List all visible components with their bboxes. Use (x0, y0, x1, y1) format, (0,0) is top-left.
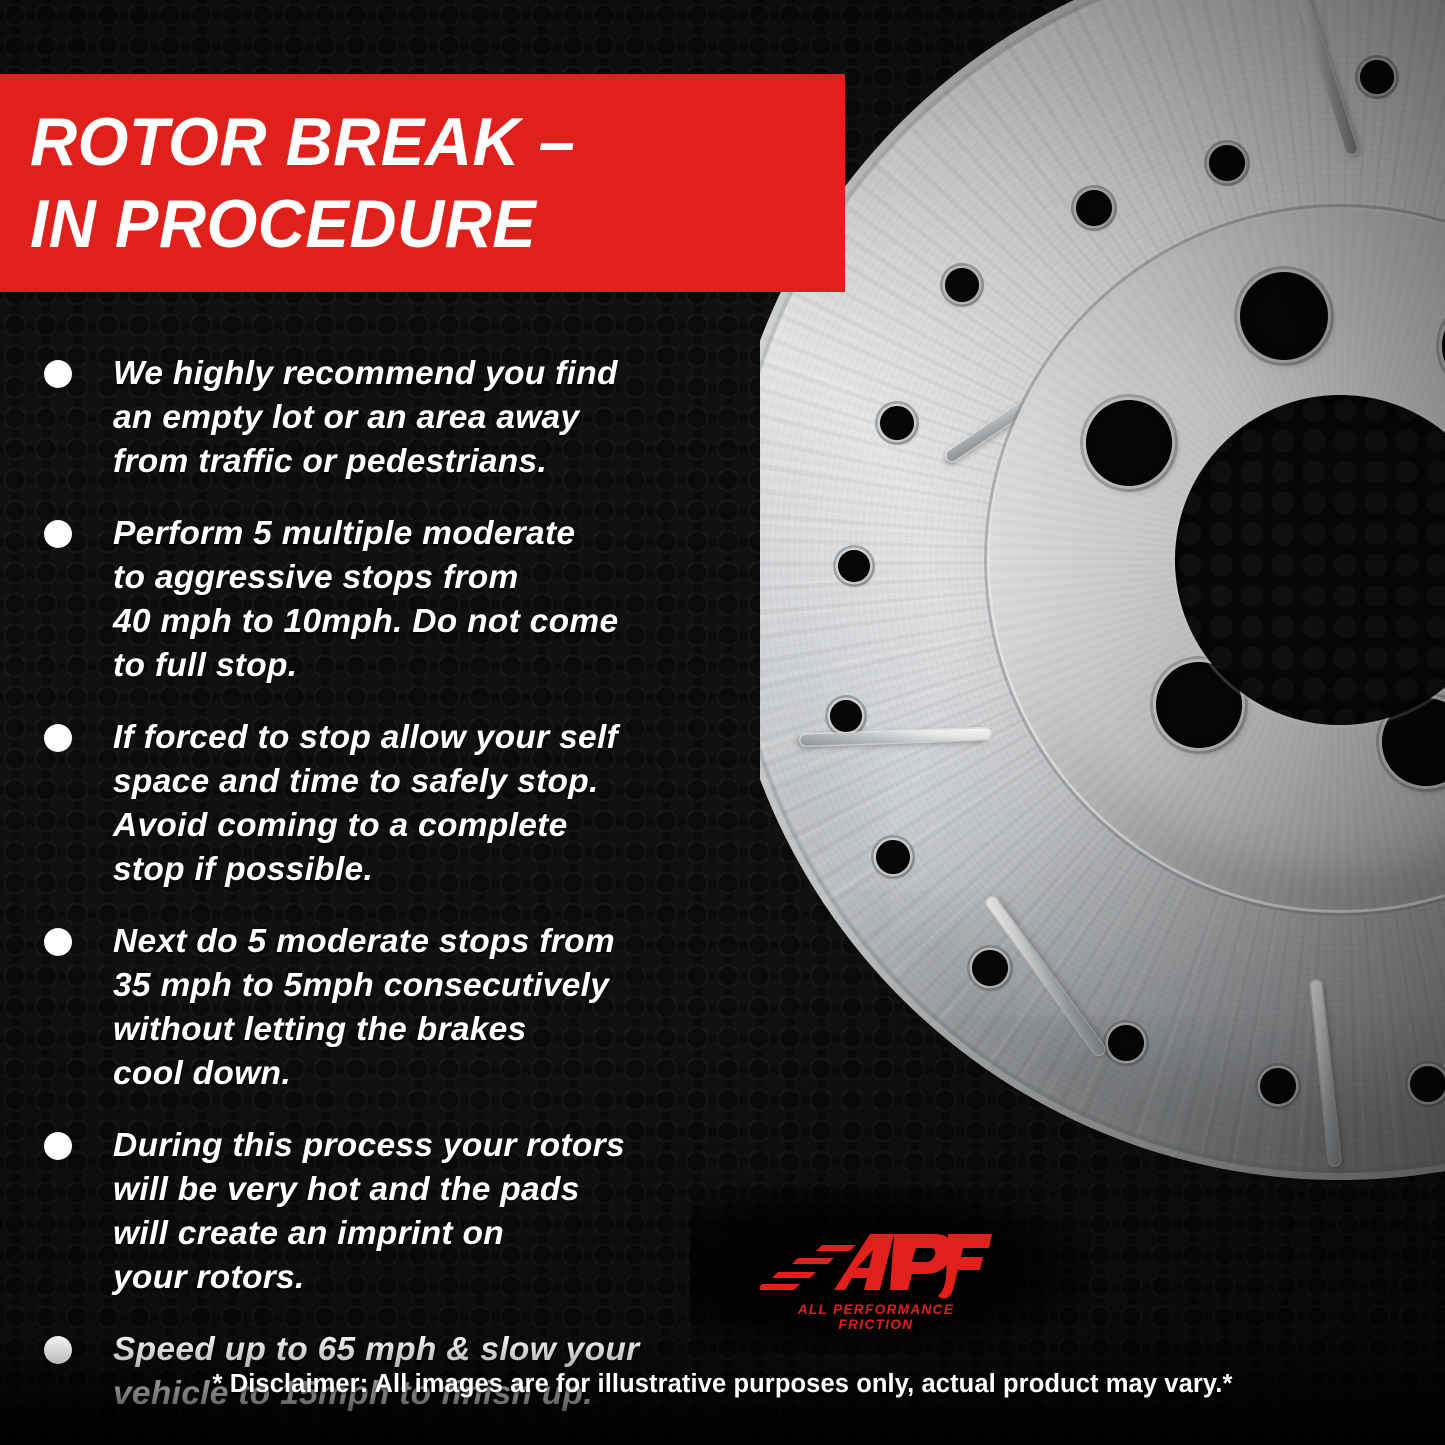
list-item-text: If forced to stop allow your self space … (113, 716, 618, 892)
list-item: If forced to stop allow your self space … (44, 716, 804, 892)
list-item-text: Next do 5 moderate stops from 35 mph to … (113, 920, 615, 1096)
page-title-line-2: IN PROCEDURE (30, 190, 812, 258)
title-banner: ROTOR BREAK – IN PROCEDURE (0, 74, 845, 292)
list-item-text: During this process your rotors will be … (113, 1124, 625, 1300)
page-title-line-1: ROTOR BREAK – (30, 108, 812, 176)
rotor-break-in-poster: ROTOR BREAK – IN PROCEDURE We highly rec… (0, 0, 1445, 1445)
bullet-dot-icon (44, 1132, 72, 1160)
bullet-dot-icon (44, 520, 72, 548)
bullet-dot-icon (44, 360, 72, 388)
apf-logo-tagline: ALL PERFORMANCE FRICTION (760, 1302, 992, 1332)
bullet-dot-icon (44, 724, 72, 752)
list-item: Perform 5 multiple moderate to aggressiv… (44, 512, 804, 688)
bullet-dot-icon (44, 928, 72, 956)
list-item: Next do 5 moderate stops from 35 mph to … (44, 920, 804, 1096)
list-item: We highly recommend you find an empty lo… (44, 352, 804, 484)
disclaimer-text: * Disclaimer: All images are for illustr… (0, 1370, 1445, 1399)
list-item-text: Perform 5 multiple moderate to aggressiv… (113, 512, 618, 688)
list-item-text: We highly recommend you find an empty lo… (113, 352, 618, 484)
apf-logo: ALL PERFORMANCE FRICTION (760, 1228, 992, 1324)
apf-logo-mark (760, 1228, 992, 1300)
